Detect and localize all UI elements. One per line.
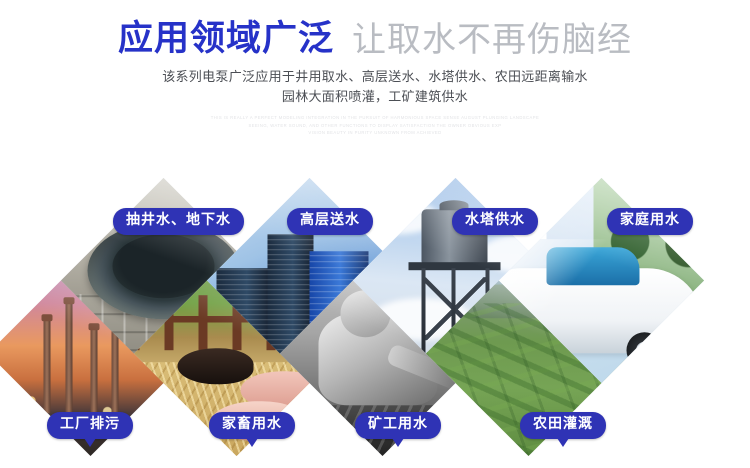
label-livestock-water[interactable]: 家畜用水 bbox=[209, 412, 295, 439]
description-line-1: 该系列电泵广泛应用于井用取水、高层送水、水塔供水、农田远距离输水 bbox=[0, 68, 750, 88]
faint-line-3: VISION BEAUTY IN PURITY UNKNOWN FROM ACH… bbox=[0, 129, 750, 136]
page-title: 应用领域广泛让取水不再伤脑经 bbox=[0, 22, 750, 57]
faint-line-1: THIS IS REALLY A PERFECT MODELING INTEGR… bbox=[0, 114, 750, 121]
faint-latin-text: THIS IS REALLY A PERFECT MODELING INTEGR… bbox=[0, 114, 750, 136]
faint-line-2: SEEING, WATER SOUND, AND OTHER FUNCTIONS… bbox=[0, 122, 750, 129]
title-subtitle: 让取水不再伤脑经 bbox=[352, 20, 632, 60]
label-farm-irrigation[interactable]: 农田灌溉 bbox=[520, 412, 606, 439]
promo-banner: 应用领域广泛让取水不再伤脑经 该系列电泵广泛应用于井用取水、高层送水、水塔供水、… bbox=[0, 0, 750, 468]
description: 该系列电泵广泛应用于井用取水、高层送水、水塔供水、农田远距离输水 园林大面积喷灌… bbox=[0, 68, 750, 108]
label-household-water[interactable]: 家庭用水 bbox=[607, 208, 693, 235]
title-main: 应用领域广泛 bbox=[118, 19, 334, 59]
label-factory-waste[interactable]: 工厂排污 bbox=[47, 412, 133, 439]
label-high-rise-supply[interactable]: 高层送水 bbox=[287, 208, 373, 235]
description-line-2: 园林大面积喷灌，工矿建筑供水 bbox=[0, 88, 750, 108]
application-diamond-grid: 抽井水、地下水 高层送水 水塔供水 家庭用水 工厂排污 家畜用水 矿工用水 农田… bbox=[0, 176, 750, 468]
label-miner-water[interactable]: 矿工用水 bbox=[355, 412, 441, 439]
header: 应用领域广泛让取水不再伤脑经 该系列电泵广泛应用于井用取水、高层送水、水塔供水、… bbox=[0, 0, 750, 136]
label-water-tower-supply[interactable]: 水塔供水 bbox=[452, 208, 538, 235]
label-well-groundwater[interactable]: 抽井水、地下水 bbox=[113, 208, 244, 235]
